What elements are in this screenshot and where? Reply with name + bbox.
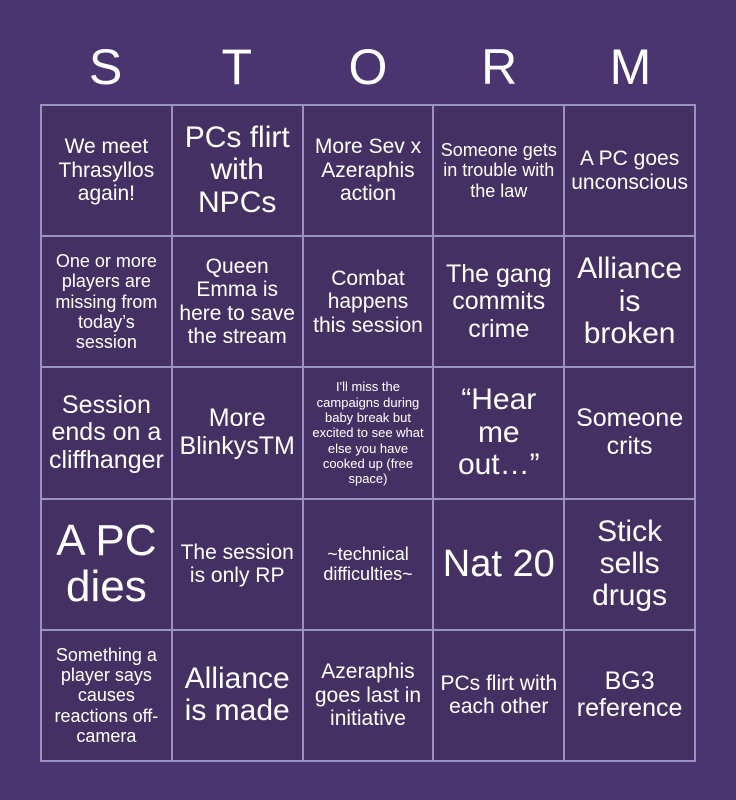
bingo-cell-label: Nat 20 — [439, 544, 558, 584]
bingo-cell-r1c3[interactable]: More Sev x Azeraphis action — [304, 106, 433, 235]
bingo-cell-label: Stick sells drugs — [570, 516, 689, 613]
bingo-cell-r1c4[interactable]: Someone gets in trouble with the law — [434, 106, 563, 235]
title-letter-3: O — [302, 34, 433, 100]
bingo-cell-label: I'll miss the campaigns during baby brea… — [309, 379, 428, 486]
bingo-cell-r2c4[interactable]: The gang commits crime — [434, 237, 563, 366]
bingo-cell-r4c2[interactable]: The session is only RP — [173, 500, 302, 629]
bingo-cell-r3c3[interactable]: I'll miss the campaigns during baby brea… — [304, 368, 433, 497]
bingo-cell-r4c5[interactable]: Stick sells drugs — [565, 500, 694, 629]
bingo-cell-label: A PC goes unconscious — [570, 147, 689, 194]
bingo-cell-r1c2[interactable]: PCs flirt with NPCs — [173, 106, 302, 235]
bingo-cell-label: Someone gets in trouble with the law — [439, 140, 558, 201]
bingo-cell-label: More BlinkysTM — [178, 405, 297, 460]
bingo-cell-r2c2[interactable]: Queen Emma is here to save the stream — [173, 237, 302, 366]
bingo-cell-r5c3[interactable]: Azeraphis goes last in initiative — [304, 631, 433, 760]
bingo-cell-r3c5[interactable]: Someone crits — [565, 368, 694, 497]
bingo-cell-r3c1[interactable]: Session ends on a cliffhanger — [42, 368, 171, 497]
bingo-cell-label: Someone crits — [570, 405, 689, 460]
bingo-cell-label: PCs flirt with each other — [439, 672, 558, 719]
bingo-cell-label: The session is only RP — [178, 541, 297, 588]
bingo-grid: We meet Thrasyllos again!PCs flirt with … — [40, 104, 696, 762]
bingo-cell-label: More Sev x Azeraphis action — [309, 135, 428, 206]
title-letter-1: S — [40, 34, 171, 100]
title-letter-4: R — [434, 34, 565, 100]
bingo-title: S T O R M — [40, 34, 696, 100]
bingo-cell-r5c2[interactable]: Alliance is made — [173, 631, 302, 760]
bingo-cell-r1c1[interactable]: We meet Thrasyllos again! — [42, 106, 171, 235]
bingo-cell-label: Alliance is made — [178, 663, 297, 728]
bingo-cell-r5c4[interactable]: PCs flirt with each other — [434, 631, 563, 760]
bingo-cell-label: We meet Thrasyllos again! — [47, 135, 166, 206]
bingo-cell-label: ~technical difficulties~ — [309, 544, 428, 585]
bingo-cell-label: Queen Emma is here to save the stream — [178, 255, 297, 349]
title-letter-2: T — [171, 34, 302, 100]
bingo-cell-label: Something a player says causes reactions… — [47, 645, 166, 747]
bingo-cell-label: A PC dies — [47, 518, 166, 610]
bingo-card: S T O R M We meet Thrasyllos again!PCs f… — [0, 0, 736, 800]
bingo-cell-label: BG3 reference — [570, 668, 689, 723]
bingo-cell-label: Session ends on a cliffhanger — [47, 392, 166, 475]
bingo-cell-label: The gang commits crime — [439, 261, 558, 344]
bingo-cell-r1c5[interactable]: A PC goes unconscious — [565, 106, 694, 235]
bingo-cell-label: Alliance is broken — [570, 253, 689, 350]
bingo-cell-label: Combat happens this session — [309, 267, 428, 338]
bingo-cell-label: “Hear me out…” — [439, 384, 558, 481]
bingo-cell-r4c1[interactable]: A PC dies — [42, 500, 171, 629]
bingo-cell-label: One or more players are missing from tod… — [47, 251, 166, 353]
bingo-cell-r3c2[interactable]: More BlinkysTM — [173, 368, 302, 497]
bingo-cell-r3c4[interactable]: “Hear me out…” — [434, 368, 563, 497]
bingo-cell-r2c5[interactable]: Alliance is broken — [565, 237, 694, 366]
bingo-cell-r5c5[interactable]: BG3 reference — [565, 631, 694, 760]
bingo-cell-r4c4[interactable]: Nat 20 — [434, 500, 563, 629]
bingo-cell-r4c3[interactable]: ~technical difficulties~ — [304, 500, 433, 629]
bingo-cell-label: PCs flirt with NPCs — [178, 122, 297, 219]
bingo-cell-r2c3[interactable]: Combat happens this session — [304, 237, 433, 366]
bingo-cell-label: Azeraphis goes last in initiative — [309, 660, 428, 731]
title-letter-5: M — [565, 34, 696, 100]
bingo-cell-r2c1[interactable]: One or more players are missing from tod… — [42, 237, 171, 366]
bingo-cell-r5c1[interactable]: Something a player says causes reactions… — [42, 631, 171, 760]
